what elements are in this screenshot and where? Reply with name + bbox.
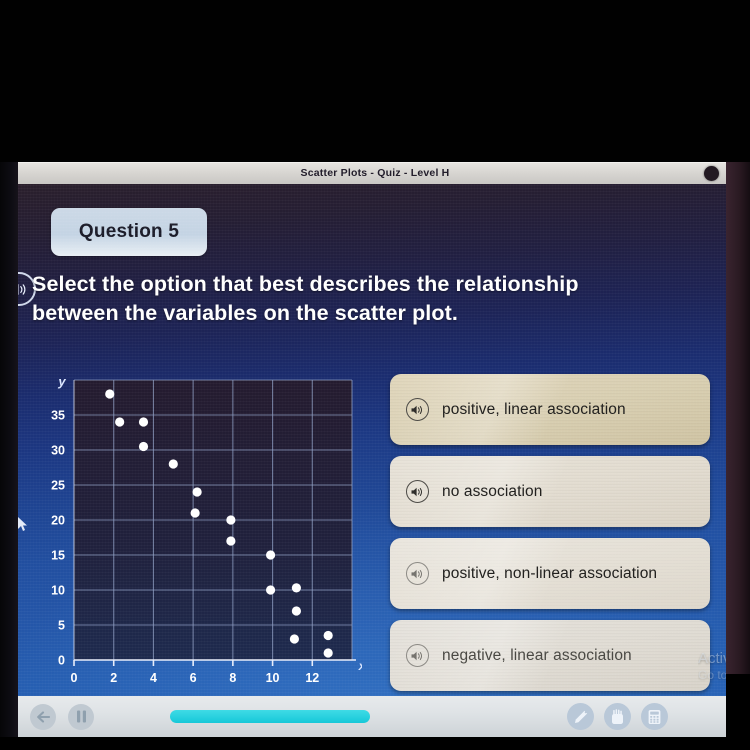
svg-text:12: 12	[305, 671, 319, 685]
svg-text:0: 0	[71, 671, 78, 685]
option-sheen	[390, 456, 710, 527]
option-speaker-icon[interactable]	[406, 398, 429, 421]
prompt-line-1: Select the option that best describes th…	[32, 270, 672, 299]
scatter-point	[139, 442, 148, 451]
svg-text:15: 15	[51, 549, 65, 563]
toolbar-tools	[567, 703, 668, 730]
letterbox-top	[0, 0, 750, 162]
svg-text:0: 0	[58, 654, 65, 668]
option-label: negative, linear association	[442, 647, 632, 665]
scatter-point	[226, 515, 235, 524]
answer-option-negative-linear[interactable]: negative, linear association	[390, 620, 710, 691]
mouse-cursor-icon	[18, 517, 28, 531]
monitor-screen: Scatter Plots - Quiz - Level H Question …	[0, 162, 750, 737]
answer-option-no-association[interactable]: no association	[390, 456, 710, 527]
svg-text:6: 6	[190, 671, 197, 685]
scatter-point	[191, 508, 200, 517]
option-label: positive, linear association	[442, 401, 626, 419]
pause-icon[interactable]	[68, 704, 94, 730]
quiz-slide: Question 5 Select the option that best d…	[18, 184, 726, 696]
svg-text:10: 10	[51, 584, 65, 598]
windows-activation-watermark: Activate W Go to Setting	[698, 650, 726, 682]
scatter-point	[292, 583, 301, 592]
option-label: positive, non-linear association	[442, 565, 657, 583]
scatter-point	[193, 487, 202, 496]
scatter-point	[266, 550, 275, 559]
scatter-point	[292, 606, 301, 615]
left-bezel	[0, 162, 18, 737]
screenshot-root: Scatter Plots - Quiz - Level H Question …	[0, 0, 750, 750]
svg-text:8: 8	[229, 671, 236, 685]
letterbox-bottom	[0, 737, 750, 750]
bottom-toolbar	[18, 696, 726, 737]
svg-text:30: 30	[51, 444, 65, 458]
back-arrow-icon[interactable]	[30, 704, 56, 730]
question-number-label: Question 5	[79, 221, 179, 243]
scatter-point	[266, 585, 275, 594]
scatter-point	[169, 459, 178, 468]
svg-text:4: 4	[150, 671, 157, 685]
hand-icon[interactable]	[604, 703, 631, 730]
scatter-point	[226, 536, 235, 545]
question-badge: Question 5	[51, 208, 207, 256]
svg-text:2: 2	[110, 671, 117, 685]
answer-option-positive-nonlinear[interactable]: positive, non-linear association	[390, 538, 710, 609]
watermark-line-2: Go to Setting	[698, 668, 726, 682]
svg-text:10: 10	[266, 671, 280, 685]
scatter-plot-svg: 02468101205101520253035yx	[32, 372, 362, 692]
svg-text:y: y	[57, 374, 66, 389]
question-prompt: Select the option that best describes th…	[32, 270, 672, 327]
scatter-point	[324, 648, 333, 657]
svg-text:25: 25	[51, 479, 65, 493]
answer-options-list: positive, linear association no associat…	[390, 374, 710, 696]
scatter-point	[139, 417, 148, 426]
window-close-dot[interactable]	[704, 166, 719, 181]
svg-text:5: 5	[58, 619, 65, 633]
option-speaker-icon[interactable]	[406, 644, 429, 667]
svg-text:20: 20	[51, 514, 65, 528]
window-title: Scatter Plots - Quiz - Level H	[18, 167, 732, 179]
scatter-point	[115, 417, 124, 426]
progress-bar-fill	[170, 710, 370, 723]
prompt-line-2: between the variables on the scatter plo…	[32, 299, 672, 328]
progress-bar[interactable]	[170, 710, 370, 723]
scatter-point	[290, 634, 299, 643]
pencil-icon[interactable]	[567, 703, 594, 730]
option-speaker-icon[interactable]	[406, 480, 429, 503]
calculator-icon[interactable]	[641, 703, 668, 730]
right-bezel	[726, 162, 750, 674]
svg-text:x: x	[358, 659, 362, 673]
scatter-point	[105, 389, 114, 398]
watermark-line-1: Activate W	[698, 650, 726, 668]
scatter-point	[324, 631, 333, 640]
option-speaker-icon[interactable]	[406, 562, 429, 585]
scatter-plot: 02468101205101520253035yx	[32, 372, 362, 692]
answer-option-positive-linear[interactable]: positive, linear association	[390, 374, 710, 445]
svg-text:35: 35	[51, 409, 65, 423]
window-titlebar: Scatter Plots - Quiz - Level H	[18, 162, 732, 184]
option-label: no association	[442, 483, 543, 501]
